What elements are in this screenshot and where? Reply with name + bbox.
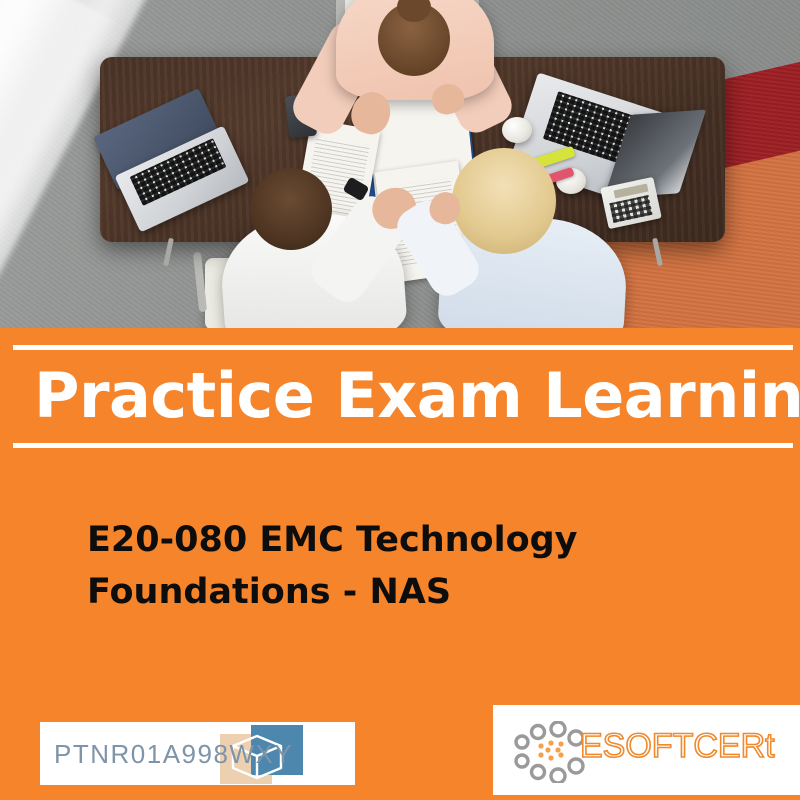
person-man-head bbox=[250, 168, 332, 250]
divider-rule-bottom bbox=[13, 443, 793, 448]
divider-rule-top bbox=[13, 345, 793, 350]
logo-esoftcert: ESOFTCERt bbox=[493, 705, 800, 795]
header-photo bbox=[0, 0, 800, 328]
logo-esoftcert-text: ESOFTCERt bbox=[580, 727, 775, 766]
poster-root: Practice Exam Learning E20-080 EMC Techn… bbox=[0, 0, 800, 800]
logo-ptnr: PTNR01A998WXY bbox=[40, 722, 355, 785]
exam-title-line-2: Foundations - NAS bbox=[87, 566, 727, 618]
logo-ptnr-text: PTNR01A998WXY bbox=[54, 739, 293, 770]
coffee-cup-one bbox=[502, 117, 532, 143]
exam-title: E20-080 EMC Technology Foundations - NAS bbox=[87, 514, 727, 618]
page-title: Practice Exam Learning bbox=[34, 355, 774, 437]
person-blonde-head bbox=[452, 148, 556, 254]
exam-title-line-1: E20-080 EMC Technology bbox=[87, 514, 727, 566]
